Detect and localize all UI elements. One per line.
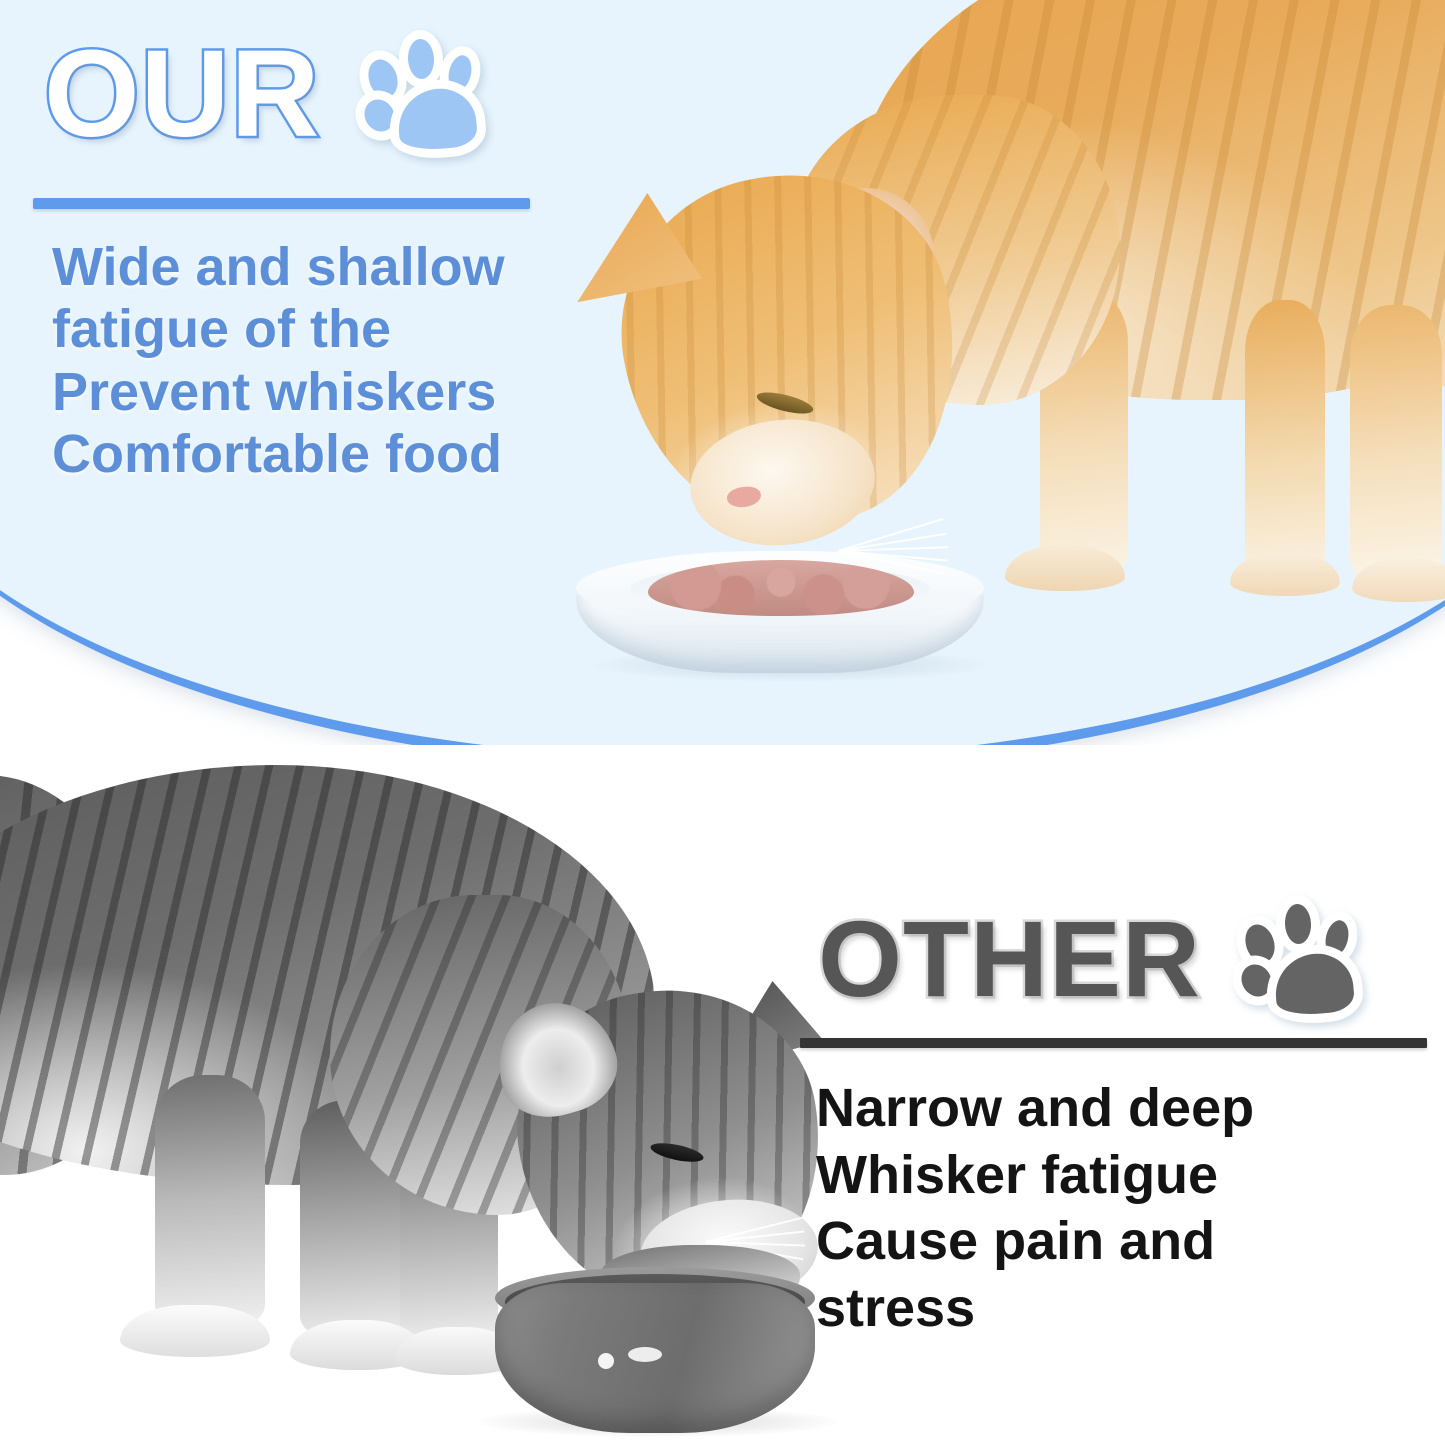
other-drawback-line: Cause pain and (816, 1208, 1436, 1275)
paw-print-icon (356, 28, 492, 160)
our-benefits-text: Wide and shallow fatigue of the Prevent … (52, 236, 632, 485)
our-heading: OUR (44, 33, 320, 156)
gray-cat-ear-left (484, 989, 628, 1129)
our-panel: OUR Wide and shallow fatigue of the Prev… (0, 0, 1445, 771)
bowl-highlight (628, 1347, 662, 1362)
other-drawbacks-text: Narrow and deep Whisker fatigue Cause pa… (816, 1075, 1436, 1342)
orange-cat-head (595, 147, 986, 554)
our-benefit-line: Comfortable food (52, 423, 632, 485)
other-drawback-line: Whisker fatigue (816, 1142, 1436, 1209)
other-divider (800, 1038, 1427, 1048)
orange-cat-ear-right (784, 173, 950, 328)
gray-cat-neck (330, 895, 630, 1215)
our-heading-row: OUR (44, 28, 492, 160)
our-benefit-line: Wide and shallow (52, 236, 632, 298)
orange-cat-neck (790, 95, 1120, 405)
gray-cat-paw-mid (290, 1320, 425, 1370)
orange-cat-paw-rear-left (1230, 552, 1340, 596)
orange-cat-paw-rear-right (1352, 558, 1445, 602)
orange-cat-body (855, 0, 1445, 400)
gray-cat-leg-rear (155, 1075, 265, 1330)
orange-cat-leg-front (1040, 290, 1128, 580)
orange-cat-leg-rear-right (1350, 305, 1442, 585)
orange-cat-leg-rear-left (1245, 300, 1325, 585)
gray-cat-ear-right (712, 981, 824, 1081)
other-drawback-line: Narrow and deep (816, 1075, 1436, 1142)
other-panel: OTHER Narrow and deep Whisker fatigue Ca… (0, 745, 1445, 1445)
gray-cat-hindquarters (0, 775, 150, 1175)
other-heading-row: OTHER (818, 893, 1369, 1025)
gray-cat-leg-mid (300, 1100, 404, 1340)
orange-cat-rump (1230, 0, 1445, 390)
other-drawback-line: stress (816, 1275, 1436, 1342)
our-benefit-line: Prevent whiskers (52, 361, 632, 423)
comparison-infographic: OUR Wide and shallow fatigue of the Prev… (0, 0, 1445, 1445)
orange-cat-whiskers (838, 520, 968, 590)
gray-cat-body (0, 765, 655, 1185)
our-divider (33, 198, 530, 209)
our-benefit-line: fatigue of the (52, 298, 632, 360)
orange-cat-nose (726, 485, 762, 510)
bowl-highlight (598, 1353, 614, 1369)
other-heading: OTHER (818, 905, 1201, 1013)
gray-cat-paw-rear (120, 1305, 270, 1357)
paw-print-icon (1233, 893, 1369, 1025)
our-panel-content: OUR Wide and shallow fatigue of the Prev… (0, 0, 1445, 760)
orange-cat-eye (755, 388, 815, 418)
orange-cat-paw-front (1005, 545, 1125, 591)
gray-cat-leg-front (400, 1115, 498, 1345)
gray-cat-eye (649, 1140, 705, 1166)
